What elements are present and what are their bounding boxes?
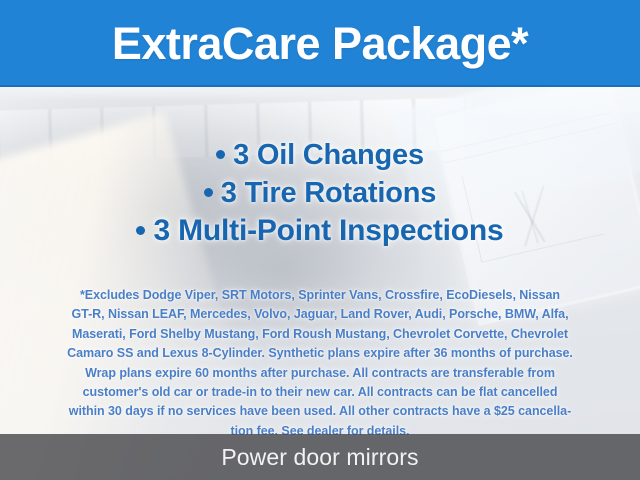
disclaimer-line: Camaro SS and Lexus 8-Cylinder. Syntheti… — [20, 344, 620, 363]
disclaimer-line: customer's old car or trade-in to their … — [20, 383, 620, 402]
disclaimer-line: Wrap plans expire 60 months after purcha… — [20, 364, 620, 383]
caption-label: Power door mirrors — [221, 444, 418, 471]
benefit-label: 3 Oil Changes — [233, 139, 424, 171]
benefit-item-tire-rotations: 3 Tire Rotations — [0, 174, 640, 212]
benefit-item-oil-changes: 3 Oil Changes — [0, 136, 640, 174]
disclaimer-line: Maserati, Ford Shelby Mustang, Ford Rous… — [20, 325, 620, 344]
bullet-dot-icon — [136, 226, 145, 235]
benefit-label: 3 Multi-Point Inspections — [153, 214, 503, 247]
benefits-list: 3 Oil Changes 3 Tire Rotations 3 Multi-P… — [0, 136, 640, 250]
benefit-label: 3 Tire Rotations — [221, 177, 436, 209]
page-title: ExtraCare Package* — [112, 21, 528, 66]
benefit-item-multi-point-inspections: 3 Multi-Point Inspections — [0, 212, 640, 250]
bullet-dot-icon — [204, 188, 213, 197]
disclaimer-text: *Excludes Dodge Viper, SRT Motors, Sprin… — [20, 286, 620, 441]
disclaimer-line: *Excludes Dodge Viper, SRT Motors, Sprin… — [20, 286, 620, 305]
bullet-dot-icon — [216, 150, 225, 159]
disclaimer-line: GT-R, Nissan LEAF, Mercedes, Volvo, Jagu… — [20, 305, 620, 324]
header-banner: ExtraCare Package* — [0, 0, 640, 87]
extracare-package-promo-image: ExtraCare Package* 3 Oil Changes 3 Tire … — [0, 0, 640, 480]
disclaimer-line: within 30 days if no services have been … — [20, 402, 620, 421]
caption-bar: Power door mirrors — [0, 434, 640, 480]
